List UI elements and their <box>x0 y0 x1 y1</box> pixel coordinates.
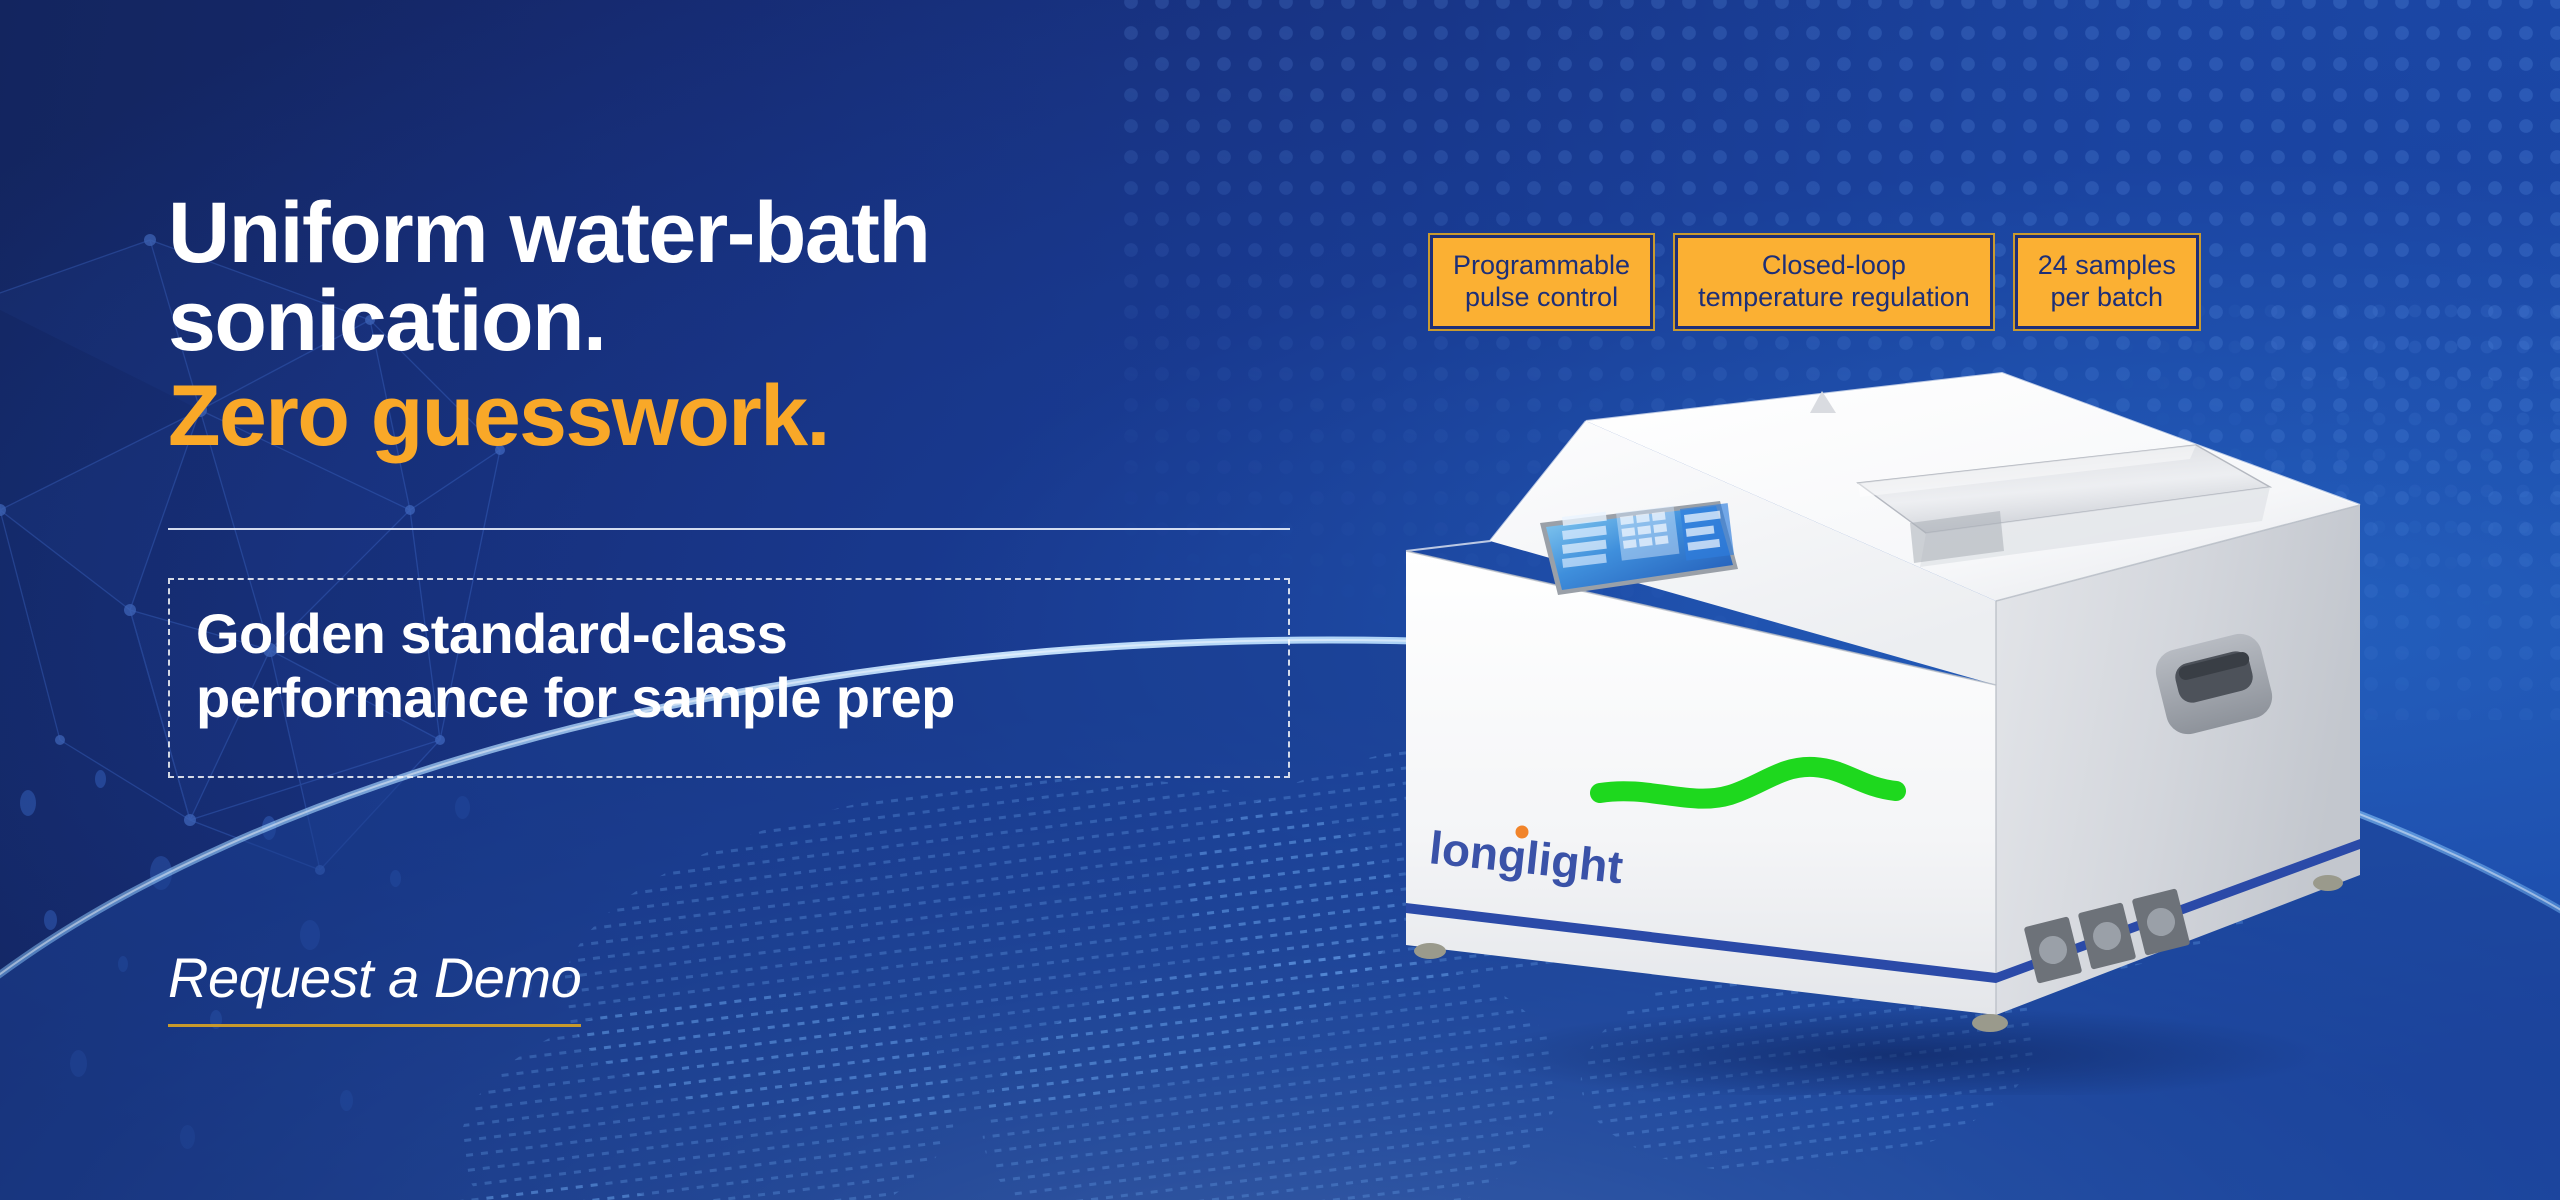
hero-banner: Uniform water-bath sonication. Zero gues… <box>0 0 2560 1200</box>
feature-badge[interactable]: Closed-loop temperature regulation <box>1675 235 1993 329</box>
headline-line-1: Uniform water-bath <box>168 190 1268 278</box>
promise-text: Golden standard-class performance for sa… <box>196 602 1256 730</box>
headline-accent-line: Zero guesswork. <box>168 373 1268 461</box>
divider-rule <box>168 528 1290 530</box>
feature-badge-label: Programmable pulse control <box>1453 250 1630 314</box>
promise-callout-box: Golden standard-class performance for sa… <box>168 578 1290 778</box>
device-shadow <box>1480 1007 2320 1095</box>
feature-badge-label: Closed-loop temperature regulation <box>1698 250 1970 314</box>
feature-badge[interactable]: 24 samples per batch <box>2015 235 2199 329</box>
feature-badge-group: Programmable pulse control Closed-loop t… <box>1430 235 2199 329</box>
device-brand-dot <box>1516 826 1529 839</box>
promise-line-1: Golden standard-class <box>196 602 1256 666</box>
page-title: Uniform water-bath sonication. Zero gues… <box>168 190 1268 461</box>
hero-copy-column: Uniform water-bath sonication. Zero gues… <box>168 0 1328 1200</box>
promise-line-2: performance for sample prep <box>196 666 1256 730</box>
feature-badge[interactable]: Programmable pulse control <box>1430 235 1653 329</box>
sonicator-device-image: longlight <box>1390 355 2370 1095</box>
feature-badge-label: 24 samples per batch <box>2038 250 2176 314</box>
headline-line-2: sonication. <box>168 278 1268 366</box>
request-demo-link[interactable]: Request a Demo <box>168 945 581 1027</box>
